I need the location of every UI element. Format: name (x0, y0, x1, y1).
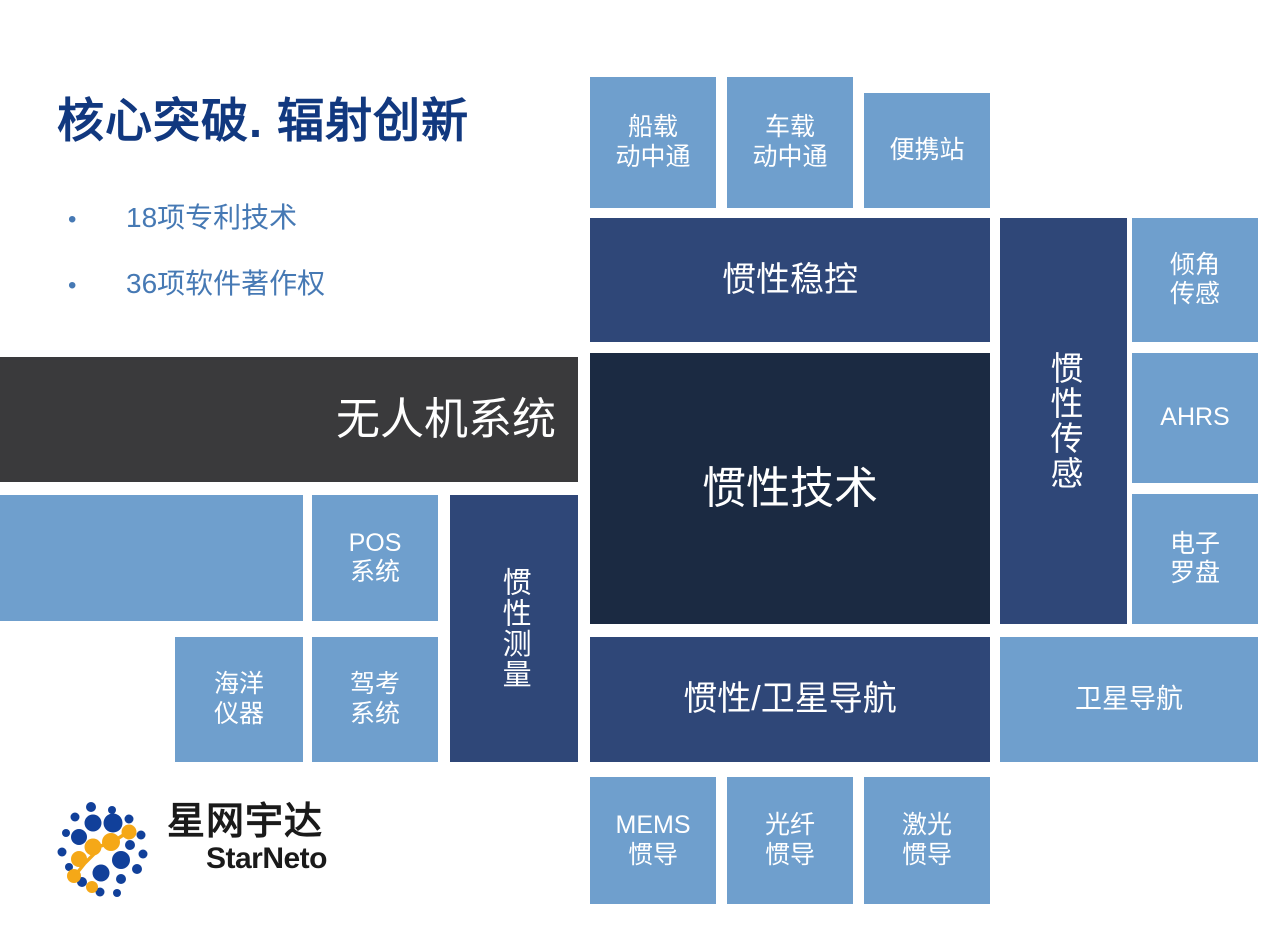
page-title: 核心突破. 辐射创新 (57, 82, 469, 151)
block-driving-test-system[interactable]: 驾考 系统 (312, 637, 438, 762)
bullet-marker-icon: • (68, 272, 94, 300)
bullet-label-2: 36项软件著作权 (126, 262, 325, 302)
logo-wordmark: 星网宇达 StarNeto (167, 803, 327, 874)
bullet-item-2: • 36项软件著作权 (68, 262, 325, 302)
block-satellite-navigation[interactable]: 卫星导航 (1000, 637, 1258, 762)
block-uav-system[interactable]: 无人机系统 (0, 357, 578, 482)
bullet-label-1: 18项专利技术 (126, 196, 297, 236)
block-mems-ins[interactable]: MEMS 惯导 (590, 777, 716, 904)
starneto-dot-mark-icon (55, 797, 160, 902)
block-inertial-stabilization[interactable]: 惯性稳控 (590, 218, 990, 342)
block-inertial-technology[interactable]: 惯性技术 (590, 353, 990, 624)
block-electronic-compass[interactable]: 电子 罗盘 (1132, 494, 1258, 624)
block-marine-instrument[interactable]: 海洋 仪器 (175, 637, 303, 762)
block-ahrs[interactable]: AHRS (1132, 353, 1258, 483)
block-pos-system[interactable]: POS 系统 (312, 495, 438, 621)
block-inertial-measurement[interactable]: 惯性测量 (450, 495, 578, 762)
block-shipborne-satcom[interactable]: 船载 动中通 (590, 77, 716, 208)
block-tilt-sensing[interactable]: 倾角 传感 (1132, 218, 1258, 342)
block-inertial-satellite-navigation[interactable]: 惯性/卫星导航 (590, 637, 990, 762)
company-logo: 星网宇达 StarNeto (55, 797, 325, 902)
block-empty-placeholder[interactable] (0, 495, 303, 621)
slide-canvas: 核心突破. 辐射创新 • 18项专利技术 • 36项软件著作权 船载 动中通 车… (0, 0, 1269, 952)
block-fiber-optic-ins[interactable]: 光纤 惯导 (727, 777, 853, 904)
logo-chinese-name: 星网宇达 (167, 803, 327, 843)
block-portable-station[interactable]: 便携站 (864, 93, 990, 208)
block-vehicle-satcom[interactable]: 车载 动中通 (727, 77, 853, 208)
bullet-marker-icon: • (68, 206, 94, 234)
block-inertial-sensing[interactable]: 惯性传感 (1000, 218, 1127, 624)
block-laser-ins[interactable]: 激光 惯导 (864, 777, 990, 904)
bullet-item-1: • 18项专利技术 (68, 196, 297, 236)
logo-english-name: StarNeto (167, 843, 327, 875)
